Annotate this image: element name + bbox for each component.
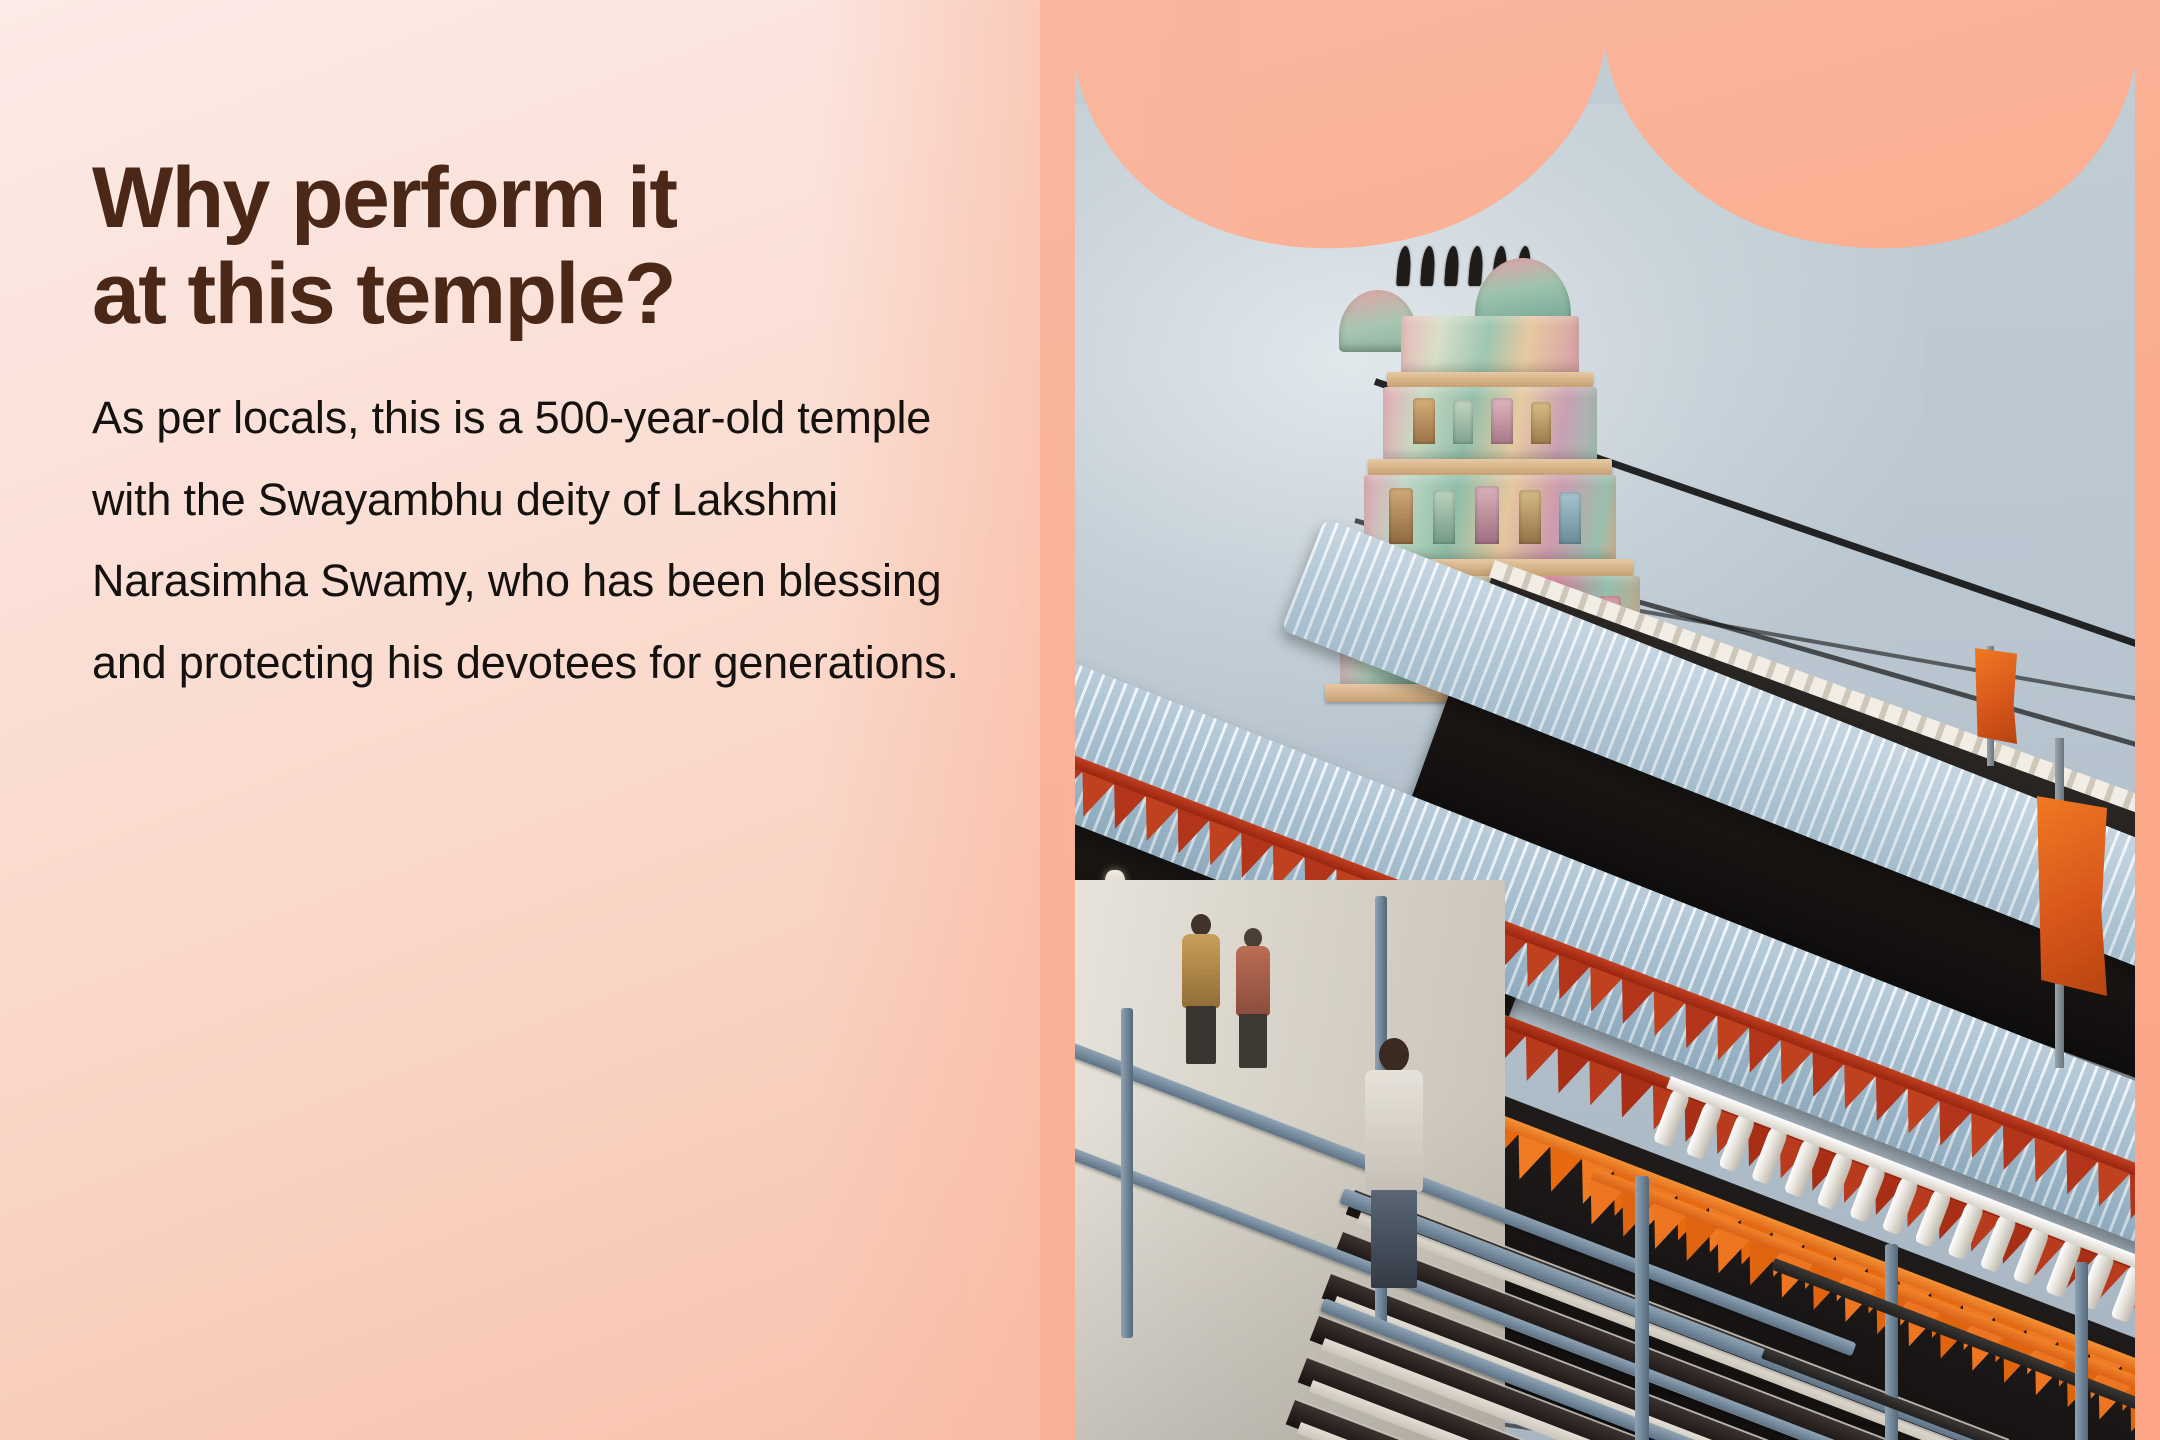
kalasha <box>1468 246 1484 286</box>
text-column: Why perform it at this temple? As per lo… <box>92 150 972 704</box>
page-title: Why perform it at this temple? <box>92 150 972 343</box>
gopuram-niche <box>1475 486 1499 544</box>
railing-post-right <box>2075 1262 2088 1440</box>
headline-line-1: Why perform it <box>92 150 972 246</box>
devotee-torso <box>1365 1070 1423 1192</box>
kalasha <box>1420 246 1436 286</box>
kalasha <box>1444 246 1460 286</box>
devotee-head <box>1244 928 1262 948</box>
headline-line-2: at this temple? <box>92 246 972 342</box>
devotee-background-2 <box>1235 928 1271 1068</box>
gopuram-niche <box>1531 402 1551 444</box>
saffron-flag-small <box>1975 648 2017 744</box>
devotee-torso <box>1236 946 1270 1016</box>
body-paragraph: As per locals, this is a 500-year-old te… <box>92 377 972 705</box>
gopuram-niche <box>1491 398 1513 444</box>
gopuram-niche <box>1389 488 1413 544</box>
railing-post <box>1121 1008 1133 1338</box>
devotee-torso <box>1182 934 1220 1008</box>
gopuram-tier-1 <box>1401 316 1579 374</box>
slide-canvas: Why perform it at this temple? As per lo… <box>0 0 2160 1440</box>
gopuram-niche <box>1453 400 1473 444</box>
devotee-legs <box>1239 1014 1267 1068</box>
kalasha <box>1396 246 1412 286</box>
gopuram-niche <box>1519 490 1541 544</box>
temple-photo-frame <box>1075 48 2135 1440</box>
gopuram-niche <box>1559 492 1581 544</box>
devotee-background-1 <box>1181 914 1221 1064</box>
railing-post <box>1635 1176 1649 1440</box>
devotee-legs <box>1371 1190 1417 1288</box>
gopuram-cornice-2 <box>1368 459 1612 475</box>
gopuram-niche <box>1413 398 1435 444</box>
devotee-foreground <box>1363 1038 1425 1288</box>
devotee-head <box>1191 914 1211 936</box>
devotee-head <box>1379 1038 1409 1072</box>
gopuram-cornice-1 <box>1387 372 1593 387</box>
railing-post <box>1885 1244 1898 1440</box>
gopuram-niche <box>1433 490 1455 544</box>
temple-photo <box>1075 48 2135 1440</box>
devotee-legs <box>1186 1006 1216 1064</box>
